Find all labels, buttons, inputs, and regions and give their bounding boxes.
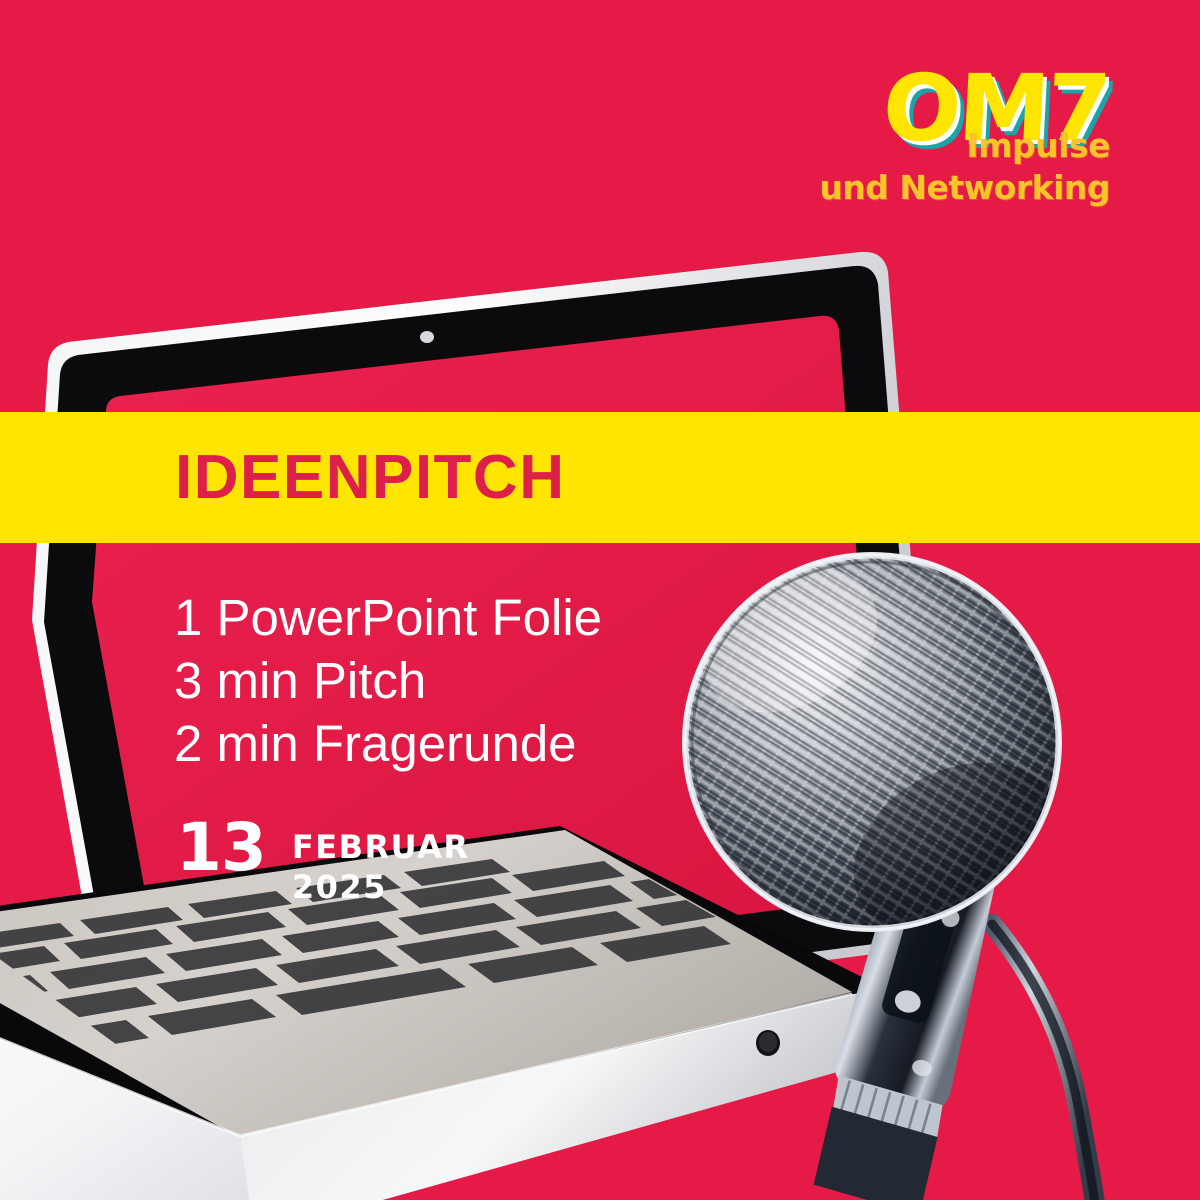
event-date-text: FEBRUAR 2025 — [292, 818, 470, 907]
banner-title: IDEENPITCH — [175, 447, 565, 509]
event-date: 13 FEBRUAR 2025 — [176, 818, 470, 907]
pitch-format-line-1: 1 PowerPoint Folie — [174, 586, 602, 649]
om7-logo-tagline-impulse: Impulse — [966, 126, 1110, 165]
om7-logo-tagline-networking: und Networking — [819, 168, 1110, 207]
pitch-format-line-3: 2 min Fragerunde — [174, 712, 602, 775]
event-date-month: FEBRUAR — [292, 827, 470, 867]
event-date-year: 2025 — [292, 867, 470, 907]
pitch-format-list: 1 PowerPoint Folie 3 min Pitch 2 min Fra… — [174, 586, 602, 775]
pitch-format-line-2: 3 min Pitch — [174, 649, 602, 712]
om7-logo: OM7 Impulse und Networking — [883, 68, 1108, 151]
event-date-day: 13 — [176, 818, 266, 879]
poster-canvas: IDEENPITCH 1 PowerPoint Folie 3 min Pitc… — [0, 0, 1200, 1200]
microphone-photo — [640, 520, 1160, 1200]
ideenpitch-banner: IDEENPITCH — [0, 412, 1200, 543]
